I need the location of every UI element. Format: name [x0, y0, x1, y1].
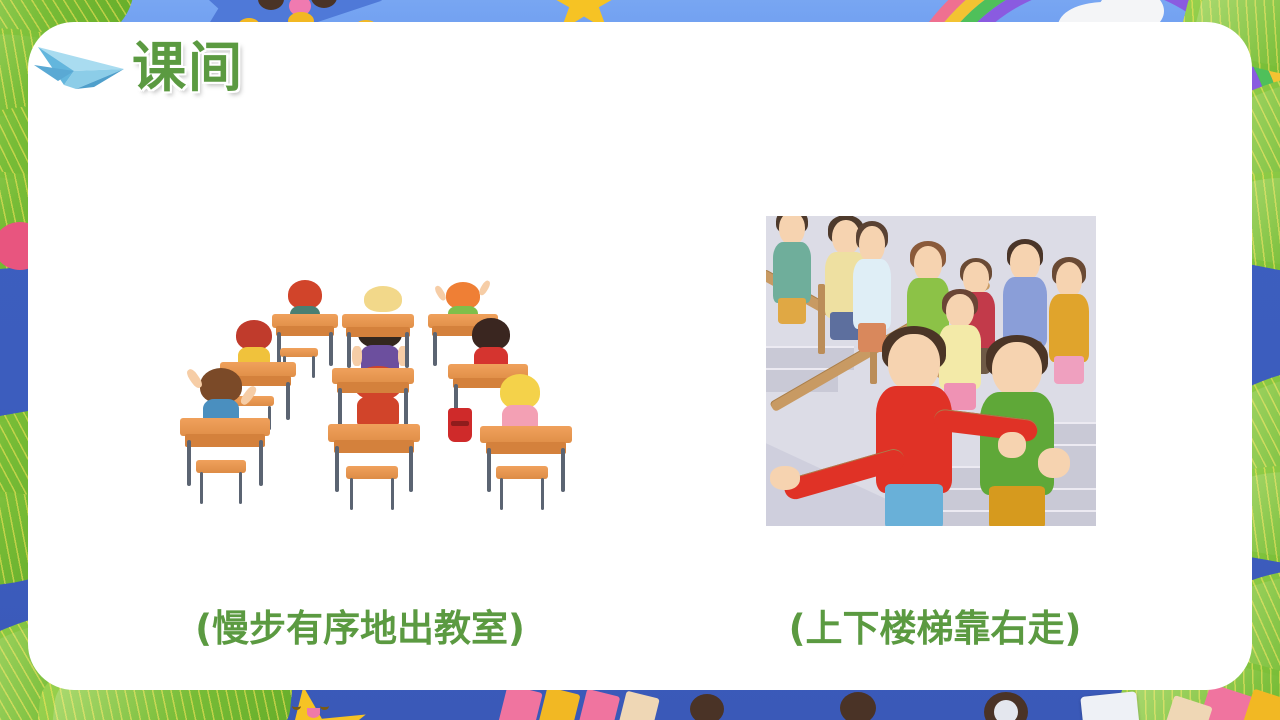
light-circle-icon [994, 700, 1018, 720]
chair [196, 460, 246, 504]
slide-header: 课间 [34, 22, 244, 114]
crowded-stairway-students-pushing-illustration [766, 216, 1096, 526]
desk [332, 368, 414, 428]
paper-plane-icon [34, 37, 126, 99]
caption-right: (上下楼梯靠右走) [700, 598, 1170, 652]
backpack-icon [448, 408, 472, 442]
page-title: 课间 [132, 41, 244, 95]
student-figure [772, 216, 812, 322]
hand-icon [770, 466, 800, 490]
star-face-eye [320, 702, 329, 710]
star-face-eye [292, 702, 301, 710]
dark-circle-icon [840, 692, 876, 720]
slide-root: 课间 [0, 0, 1280, 720]
desk [342, 314, 414, 368]
student-figure [852, 226, 892, 350]
caption-left: (慢步有序地出教室) [120, 598, 600, 652]
star-face-tongue [307, 708, 320, 718]
hand-icon [998, 432, 1026, 458]
hand-icon [1038, 448, 1070, 478]
dark-circle-icon [690, 694, 724, 720]
chair [496, 466, 548, 510]
chair [346, 466, 398, 510]
book-icon [1080, 691, 1139, 720]
classroom-students-at-desks-illustration [180, 278, 580, 510]
